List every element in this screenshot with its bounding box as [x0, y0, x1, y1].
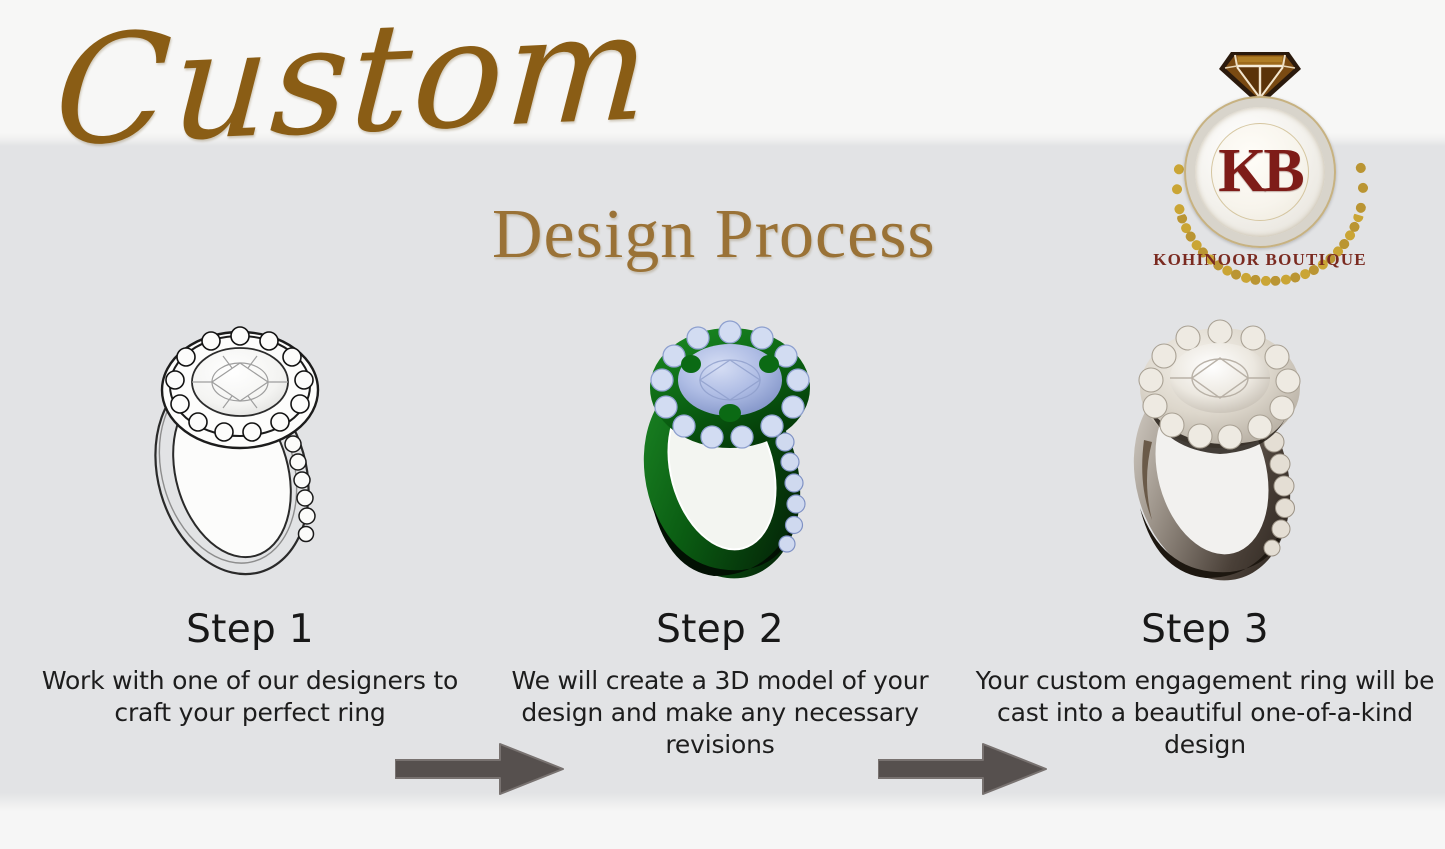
- custom-design-process-poster: Custom Design Process KB KOHI: [0, 0, 1445, 849]
- brand-name-text: KOHINOOR BOUTIQUE: [1150, 250, 1370, 270]
- logo-ring-inner: [1211, 123, 1309, 221]
- ring-sketch-illustration: [128, 308, 358, 588]
- ring-finished-photo: [1108, 308, 1338, 588]
- step-1-caption: Step 1 Work with one of our designers to…: [10, 610, 490, 729]
- step-3-description: Your custom engagement ring will be cast…: [965, 665, 1445, 761]
- step-1-title: Step 1: [10, 610, 490, 651]
- logo-monogram: KB: [1195, 140, 1325, 202]
- step-1-description: Work with one of our designers to craft …: [10, 665, 490, 729]
- step-3-title: Step 3: [965, 610, 1445, 651]
- step-2-title: Step 2: [500, 610, 940, 651]
- ring-3d-cad-model: [618, 308, 848, 588]
- step-2-description: We will create a 3D model of your design…: [500, 665, 940, 761]
- ring-circle-icon: KB: [1184, 96, 1336, 248]
- process-illustrations: [0, 300, 1445, 590]
- page-title-script: Custom: [51, 0, 656, 168]
- step-3-caption: Step 3 Your custom engagement ring will …: [965, 610, 1445, 761]
- page-subtitle: Design Process: [492, 200, 936, 270]
- step-2-caption: Step 2 We will create a 3D model of your…: [500, 610, 940, 761]
- brand-logo[interactable]: KB KOHINOOR BOUTIQUE: [1150, 48, 1370, 283]
- logo-ring-band: KB: [1184, 96, 1336, 248]
